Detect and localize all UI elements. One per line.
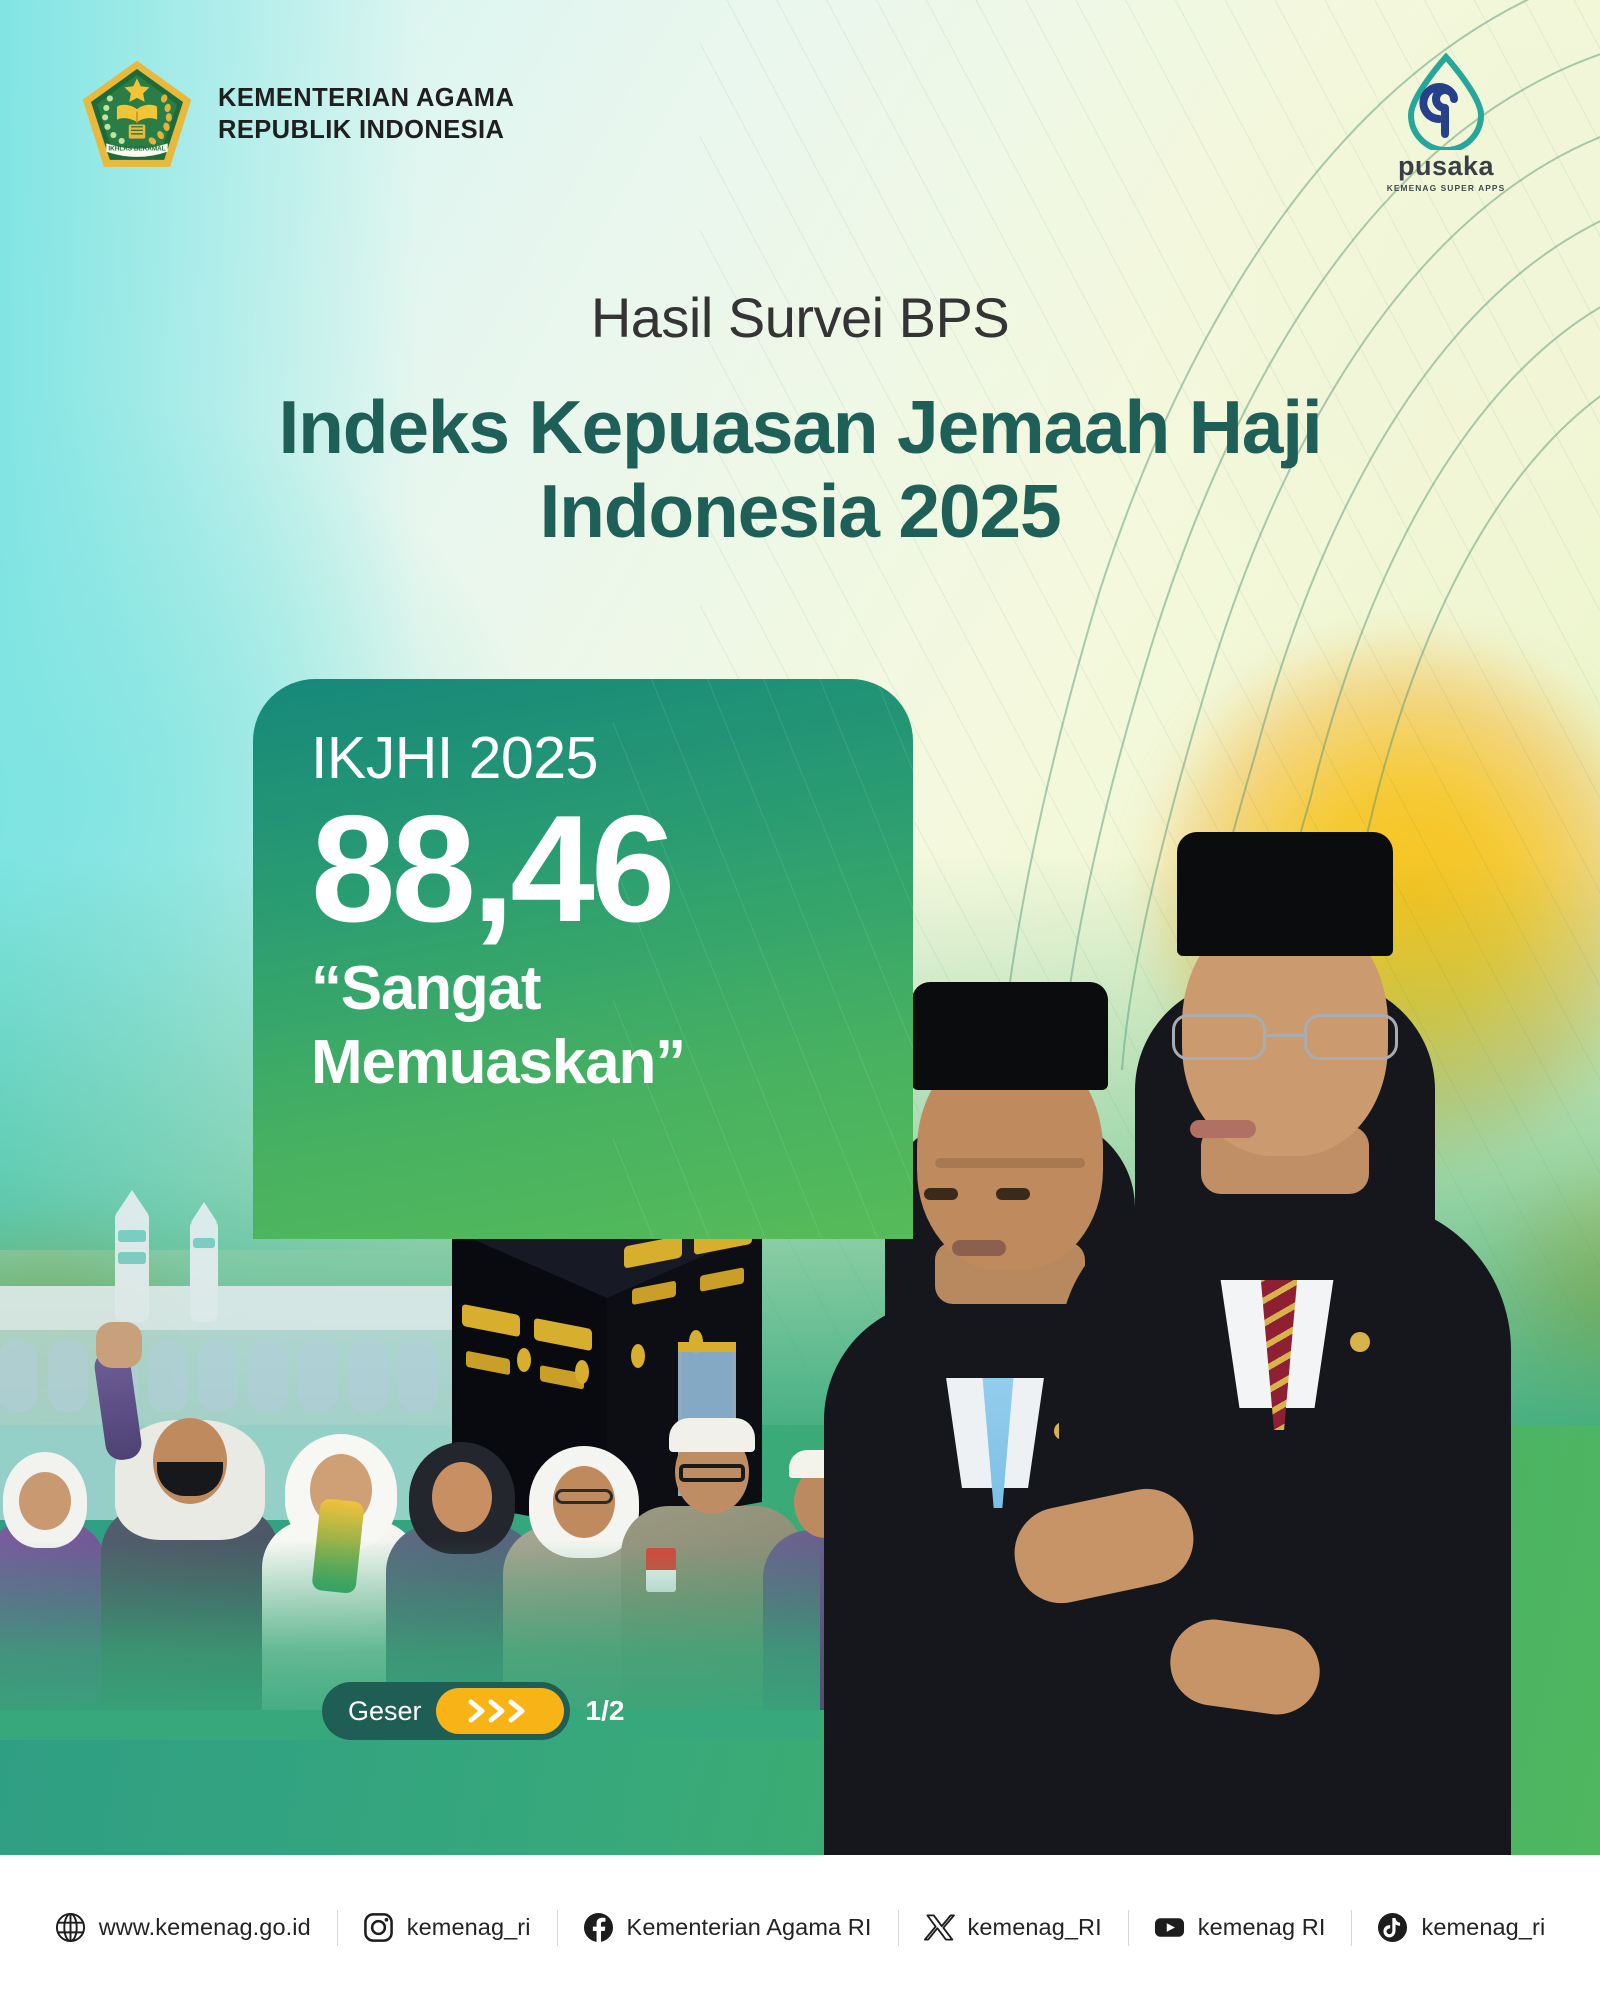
lapel-pin (1350, 1332, 1370, 1352)
social-footer: www.kemenag.go.id kemenag_ri Kementerian… (0, 1855, 1600, 2000)
footer-item-x[interactable]: kemenag_RI (898, 1912, 1128, 1943)
youtube-icon (1154, 1912, 1185, 1943)
facebook-icon (583, 1912, 614, 1943)
two-ministry-officials-portrait (810, 720, 1530, 1860)
footer-label: Kementerian Agama RI (627, 1914, 872, 1941)
infographic-poster: IKHLAS BERAMAL KEMENTERIAN AGAMA REPUBLI… (0, 0, 1600, 2000)
footer-item-instagram[interactable]: kemenag_ri (337, 1912, 557, 1943)
carousel-page-indicator: 1/2 (586, 1695, 625, 1727)
footer-label: kemenag_ri (1421, 1914, 1545, 1941)
eyeglasses (1172, 1014, 1398, 1060)
official-portrait-right (1050, 850, 1520, 1860)
tiktok-icon (1377, 1912, 1408, 1943)
footer-label: kemenag_ri (407, 1914, 531, 1941)
footer-label: kemenag RI (1198, 1914, 1326, 1941)
globe-icon (55, 1912, 86, 1943)
footer-item-facebook[interactable]: Kementerian Agama RI (557, 1912, 898, 1943)
peci-cap (1177, 832, 1393, 956)
x-twitter-icon (924, 1912, 955, 1943)
ikjhi-score-card: IKJHI 2025 88,46 “Sangat Memuaskan” (253, 679, 913, 1239)
instagram-icon (363, 1912, 394, 1943)
footer-label: www.kemenag.go.id (99, 1914, 311, 1941)
geser-pill[interactable]: Geser (322, 1682, 570, 1740)
footer-item-website[interactable]: www.kemenag.go.id (29, 1912, 337, 1943)
chevrons-right-icon[interactable] (436, 1688, 564, 1734)
footer-item-youtube[interactable]: kemenag RI (1128, 1912, 1352, 1943)
card-sheen (613, 679, 913, 1239)
footer-item-tiktok[interactable]: kemenag_ri (1351, 1912, 1571, 1943)
carousel-swipe-control[interactable]: Geser 1/2 (322, 1682, 624, 1740)
geser-label: Geser (348, 1696, 428, 1727)
footer-label: kemenag_RI (968, 1914, 1102, 1941)
